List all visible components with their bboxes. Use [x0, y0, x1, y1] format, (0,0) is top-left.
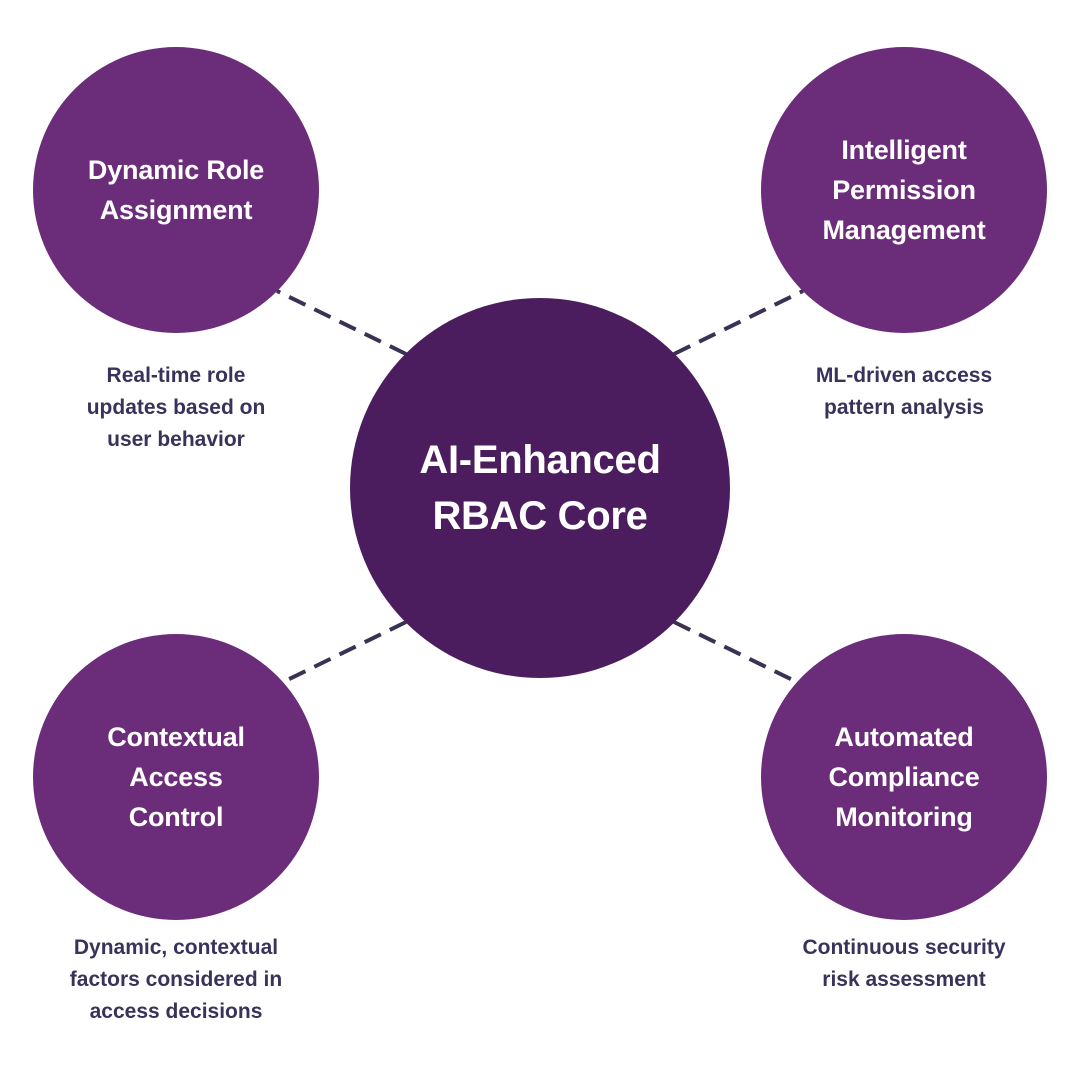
node-intelligent-permission-management[interactable]: Intelligent Permission Management	[761, 47, 1047, 333]
connector-core-to-top-right	[674, 291, 803, 354]
connector-core-to-bottom-right	[674, 622, 803, 685]
node-label-intelligent-permission-management: Intelligent Permission Management	[808, 130, 999, 250]
core-node-ai-enhanced-rbac[interactable]: AI-Enhanced RBAC Core	[350, 298, 730, 678]
node-caption-contextual-access-control: Dynamic, contextual factors considered i…	[26, 932, 326, 1028]
core-node-label: AI-Enhanced RBAC Core	[401, 432, 678, 544]
connector-core-to-top-left	[277, 291, 406, 354]
node-label-contextual-access-control: Contextual Access Control	[93, 717, 259, 837]
node-label-automated-compliance-monitoring: Automated Compliance Monitoring	[814, 717, 993, 837]
connector-core-to-bottom-left	[277, 622, 406, 685]
node-caption-automated-compliance-monitoring: Continuous security risk assessment	[754, 932, 1054, 996]
node-contextual-access-control[interactable]: Contextual Access Control	[33, 634, 319, 920]
node-label-dynamic-role-assignment: Dynamic Role Assignment	[74, 150, 278, 230]
node-automated-compliance-monitoring[interactable]: Automated Compliance Monitoring	[761, 634, 1047, 920]
node-dynamic-role-assignment[interactable]: Dynamic Role Assignment	[33, 47, 319, 333]
node-caption-dynamic-role-assignment: Real-time role updates based on user beh…	[26, 360, 326, 456]
diagram-canvas: Dynamic Role Assignment Real-time role u…	[0, 0, 1080, 1080]
node-caption-intelligent-permission-management: ML-driven access pattern analysis	[754, 360, 1054, 424]
